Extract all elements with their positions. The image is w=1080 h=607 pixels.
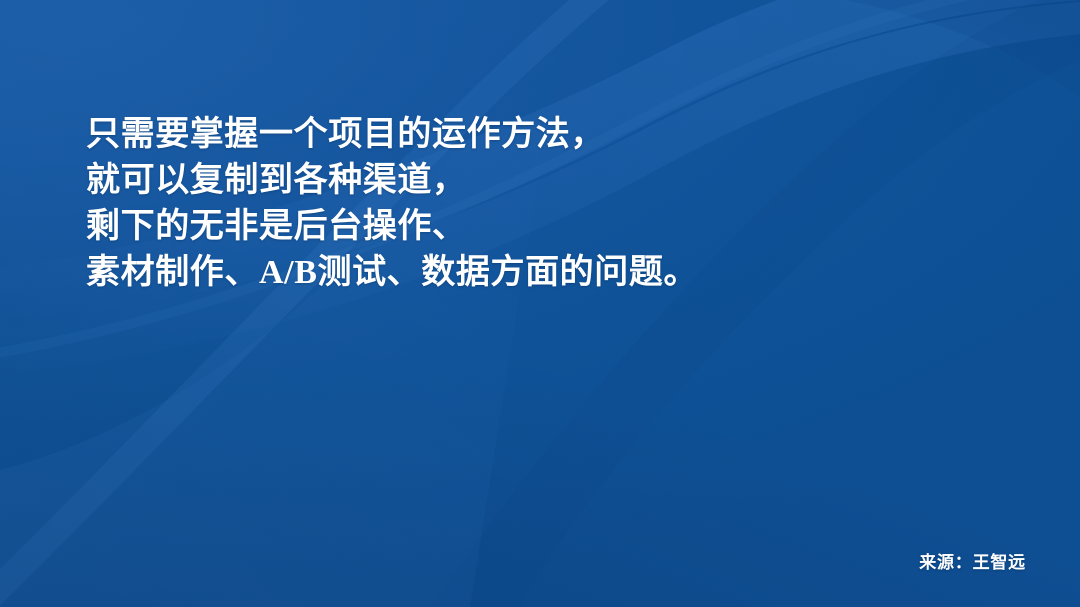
background-vignette bbox=[0, 0, 1080, 607]
quote-line-2: 就可以复制到各种渠道， bbox=[86, 158, 866, 204]
background-wave-decoration bbox=[0, 0, 1080, 607]
presentation-slide: 只需要掌握一个项目的运作方法， 就可以复制到各种渠道， 剩下的无非是后台操作、 … bbox=[0, 0, 1080, 607]
quote-line-1: 只需要掌握一个项目的运作方法， bbox=[86, 112, 866, 158]
quote-text-block: 只需要掌握一个项目的运作方法， 就可以复制到各种渠道， 剩下的无非是后台操作、 … bbox=[86, 112, 866, 296]
quote-line-3: 剩下的无非是后台操作、 bbox=[86, 204, 866, 250]
wave-band-diagonal-dark bbox=[430, 0, 1080, 607]
wave-wedge-top-right bbox=[846, 0, 1080, 96]
source-attribution: 来源：王智远 bbox=[919, 548, 1026, 573]
quote-line-4: 素材制作、A/B测试、数据方面的问题。 bbox=[86, 250, 866, 296]
slide-background bbox=[0, 0, 1080, 607]
wave-stroke-lower-left bbox=[0, 0, 660, 607]
